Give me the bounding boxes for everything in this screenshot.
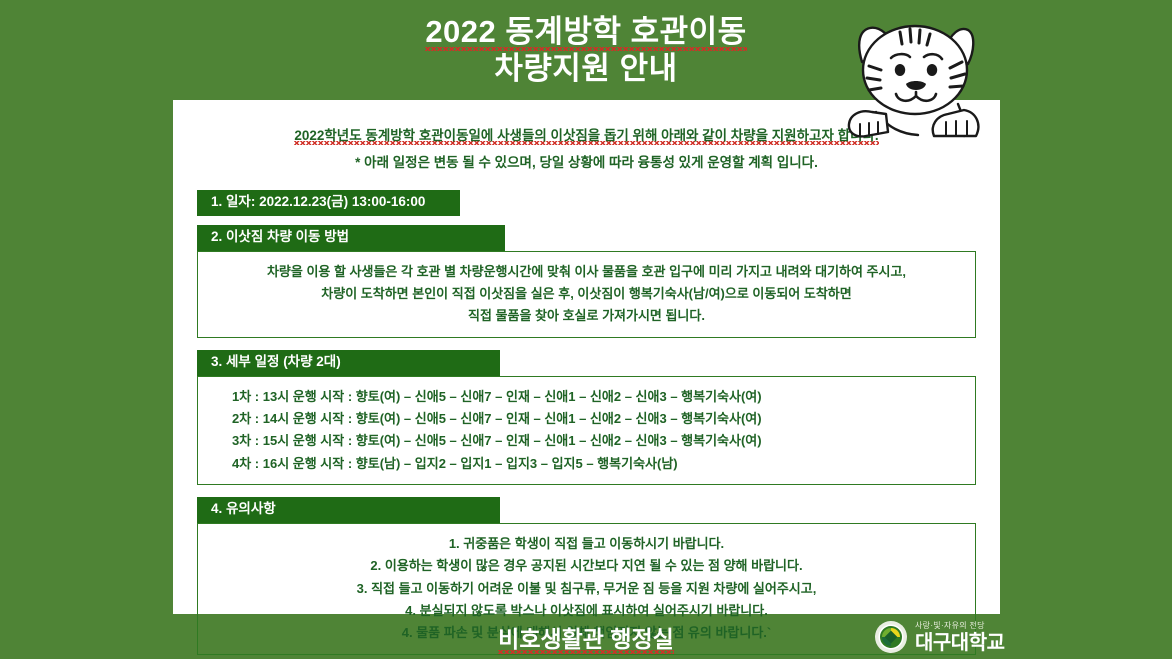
notice-row-1: 1. 귀중품은 학생이 직접 들고 이동하시기 바랍니다. <box>208 533 965 555</box>
poster-root: 2022 동계방학 호관이동 차량지원 안내 <box>0 0 1172 659</box>
section-2-line-1: 차량을 이용 할 사생들은 각 호관 별 차량운행시간에 맞춰 이사 물품을 호… <box>208 261 965 283</box>
schedule-row-2: 2차 : 14시 운행 시작 : 향토(여) – 신애5 – 신애7 – 인재 … <box>232 408 965 430</box>
notice-row-3: 3. 직접 들고 이동하기 어려운 이불 및 침구류, 무거운 짐 등을 지원 … <box>208 578 965 600</box>
section-4-heading: 4. 유의사항 <box>197 497 500 523</box>
schedule-row-1: 1차 : 13시 운행 시작 : 향토(여) – 신애5 – 신애7 – 인재 … <box>232 386 965 408</box>
intro-line-2: * 아래 일정은 변동 될 수 있으며, 당일 상황에 따라 융통성 있게 운영… <box>173 153 1000 174</box>
section-3-heading: 3. 세부 일정 (차량 2대) <box>197 350 500 376</box>
notice-row-4: 4. 분실되지 않도록 박스나 이삿짐에 표시하여 실어주시기 바랍니다. <box>208 600 965 622</box>
title-line-1: 2022 동계방학 호관이동 <box>0 14 1172 51</box>
university-seal-icon <box>874 620 908 654</box>
section-2-line-3: 직접 물품을 찾아 호실로 가져가시면 됩니다. <box>208 305 965 327</box>
poster-title: 2022 동계방학 호관이동 차량지원 안내 <box>0 14 1172 87</box>
section-2-heading: 2. 이삿짐 차량 이동 방법 <box>197 225 505 251</box>
schedule-row-4: 4차 : 16시 운행 시작 : 향토(남) – 입지2 – 입지1 – 입지3… <box>232 453 965 475</box>
section-2-body: 차량을 이용 할 사생들은 각 호관 별 차량운행시간에 맞춰 이사 물품을 호… <box>197 251 976 338</box>
section-1-heading: 1. 일자: 2022.12.23(금) 13:00-16:00 <box>197 190 460 216</box>
university-name: 대구대학교 <box>915 633 1005 653</box>
title-line-2: 차량지원 안내 <box>0 51 1172 88</box>
university-logo: 사랑·빛·자유의 전당 대구대학교 <box>874 620 1005 654</box>
section-2-line-2: 차량이 도착하면 본인이 직접 이삿짐을 실은 후, 이삿짐이 행복기숙사(남/… <box>208 283 965 305</box>
university-tagline: 사랑·빛·자유의 전당 <box>915 622 1005 630</box>
section-method: 2. 이삿짐 차량 이동 방법 차량을 이용 할 사생들은 각 호관 별 차량운… <box>197 225 976 338</box>
section-3-body: 1차 : 13시 운행 시작 : 향토(여) – 신애5 – 신애7 – 인재 … <box>197 376 976 485</box>
notice-row-2: 2. 이용하는 학생이 많은 경우 공지된 시간보다 지연 될 수 있는 점 양… <box>208 555 965 577</box>
tiger-mascot-icon <box>836 8 996 138</box>
content-card: 2022학년도 동계방학 호관이동일에 사생들의 이삿짐을 돕기 위해 아래와 … <box>173 100 1000 614</box>
university-wordmark: 사랑·빛·자유의 전당 대구대학교 <box>915 622 1005 653</box>
section-schedule: 3. 세부 일정 (차량 2대) 1차 : 13시 운행 시작 : 향토(여) … <box>197 350 976 485</box>
section-date: 1. 일자: 2022.12.23(금) 13:00-16:00 <box>197 190 976 216</box>
schedule-row-3: 3차 : 15시 운행 시작 : 향토(여) – 신애5 – 신애7 – 인재 … <box>232 430 965 452</box>
